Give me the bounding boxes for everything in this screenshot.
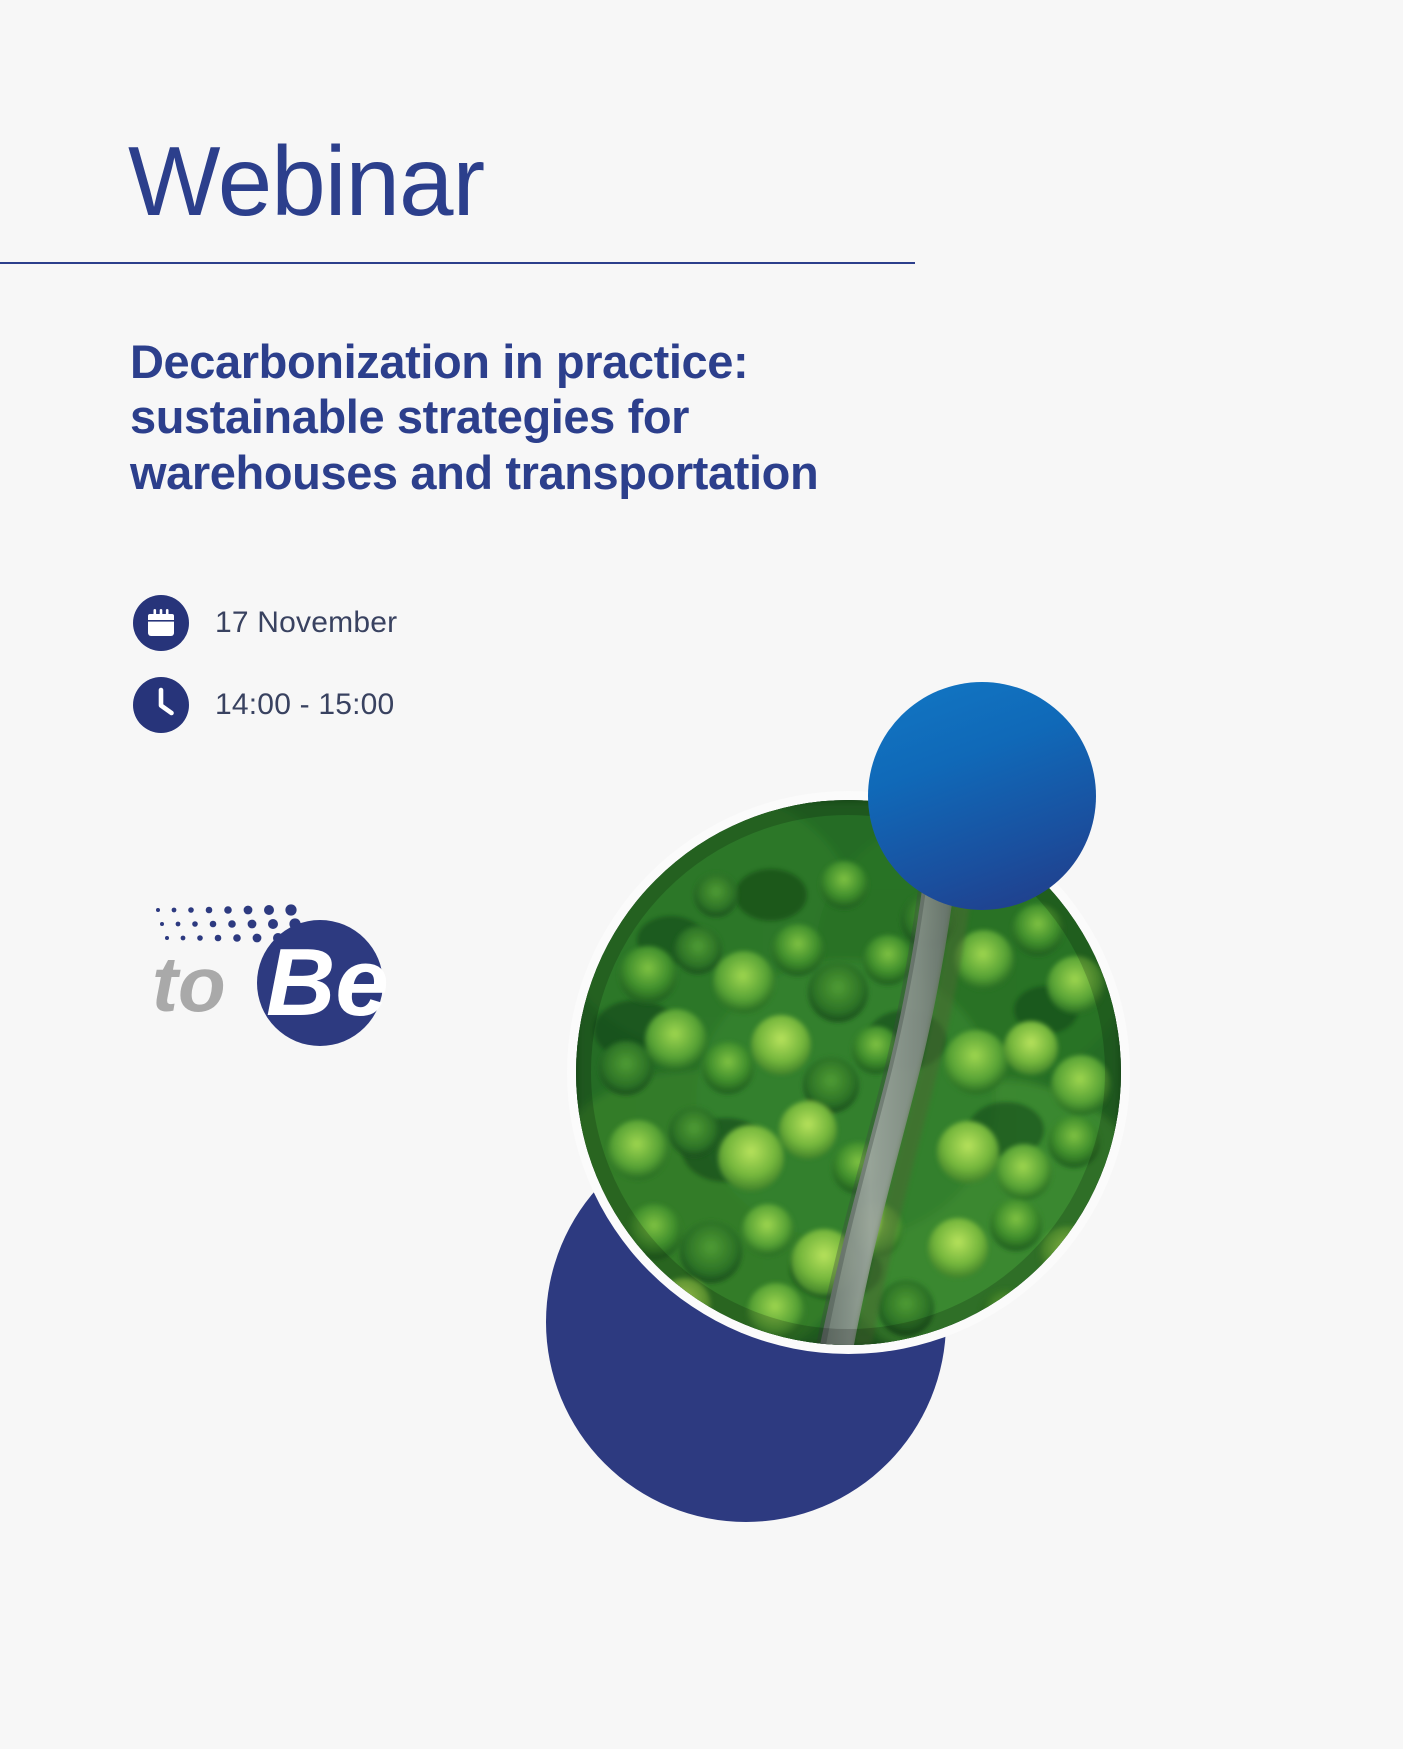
clock-icon: [133, 677, 189, 733]
logo-text-bold: Be: [266, 929, 389, 1036]
tobe-logo[interactable]: to Be: [148, 878, 418, 1053]
event-details: 17 November 14:00 - 15:00: [133, 592, 397, 756]
page-title-line-3: warehouses and transportation: [130, 445, 960, 500]
event-date-row: 17 November: [133, 592, 397, 654]
calendar-icon: [133, 595, 189, 651]
event-time-label: 14:00 - 15:00: [215, 688, 394, 722]
page-title-line-2: sustainable strategies for: [130, 389, 960, 444]
logo-text-light: to: [152, 940, 226, 1028]
page-eyebrow: Webinar: [128, 132, 484, 230]
webinar-poster: Webinar Decarbonization in practice: sus…: [0, 0, 1403, 1749]
header-divider: [0, 262, 915, 264]
event-time-row: 14:00 - 15:00: [133, 674, 397, 736]
blue-gradient-circle: [868, 682, 1096, 910]
page-title-line-1: Decarbonization in practice:: [130, 334, 960, 389]
hero-graphic: [528, 660, 1148, 1460]
event-date-label: 17 November: [215, 606, 397, 640]
page-title: Decarbonization in practice: sustainable…: [130, 334, 960, 500]
